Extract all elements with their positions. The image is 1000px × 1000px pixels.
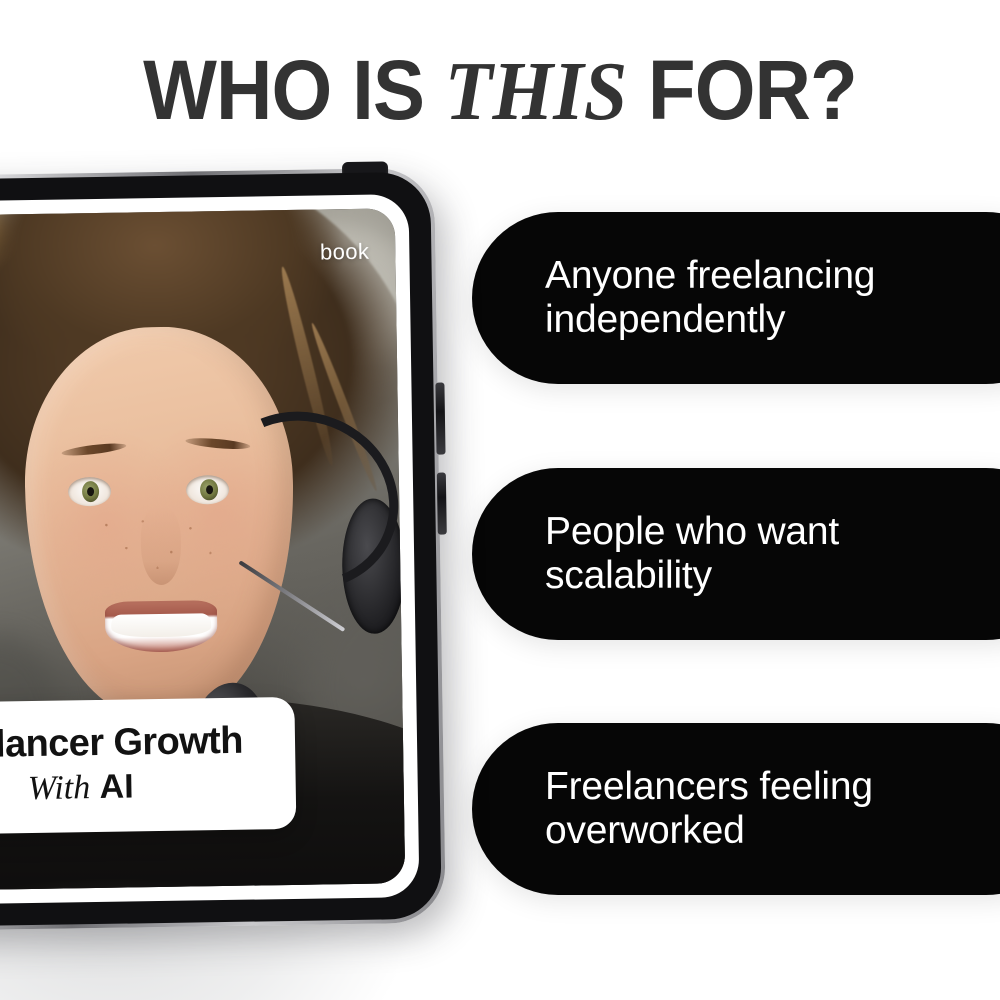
benefit-pill-3-label: Freelancers feeling overworked <box>472 765 932 852</box>
slide-canvas: WHO IS THIS FOR? Anyone freelancing inde… <box>0 0 1000 1000</box>
benefit-pill-2[interactable]: People who want scalability <box>472 468 1000 640</box>
phone-screen-frame: book Freelancer Growth With AI <box>0 194 419 905</box>
caption-title: Freelancer Growth <box>0 722 269 768</box>
benefit-pill-3[interactable]: Freelancers feeling overworked <box>472 723 1000 895</box>
phone-bezel: book Freelancer Growth With AI <box>0 172 442 928</box>
title-emphasis: THIS <box>445 45 627 138</box>
caption-subtitle-italic: With <box>28 769 91 807</box>
benefit-pill-2-label: People who want scalability <box>472 510 932 597</box>
freckles <box>89 506 230 586</box>
mouth <box>104 600 218 653</box>
teeth <box>111 613 211 638</box>
phone-screen[interactable]: book Freelancer Growth With AI <box>0 208 405 890</box>
caption-subtitle-bold: AI <box>99 768 134 807</box>
book-watermark: book <box>320 239 370 266</box>
title-part-1: WHO IS <box>143 43 424 137</box>
eyebrow-left <box>61 441 126 458</box>
caption-card: Freelancer Growth With AI <box>0 697 296 835</box>
phone-mockup: book Freelancer Growth With AI <box>0 168 446 932</box>
eye-left <box>67 476 110 506</box>
pupil-left <box>87 487 94 496</box>
title-part-2: FOR? <box>648 43 857 137</box>
iris-left <box>82 481 100 502</box>
phone-volume-button[interactable] <box>435 383 445 455</box>
page-title: WHO IS THIS FOR? <box>35 48 965 134</box>
caption-subtitle: With AI <box>0 768 270 810</box>
torso-sheen <box>0 875 304 891</box>
phone-power-button[interactable] <box>437 473 447 535</box>
benefit-pill-1[interactable]: Anyone freelancing independently <box>472 212 1000 384</box>
benefit-pill-1-label: Anyone freelancing independently <box>472 254 932 341</box>
